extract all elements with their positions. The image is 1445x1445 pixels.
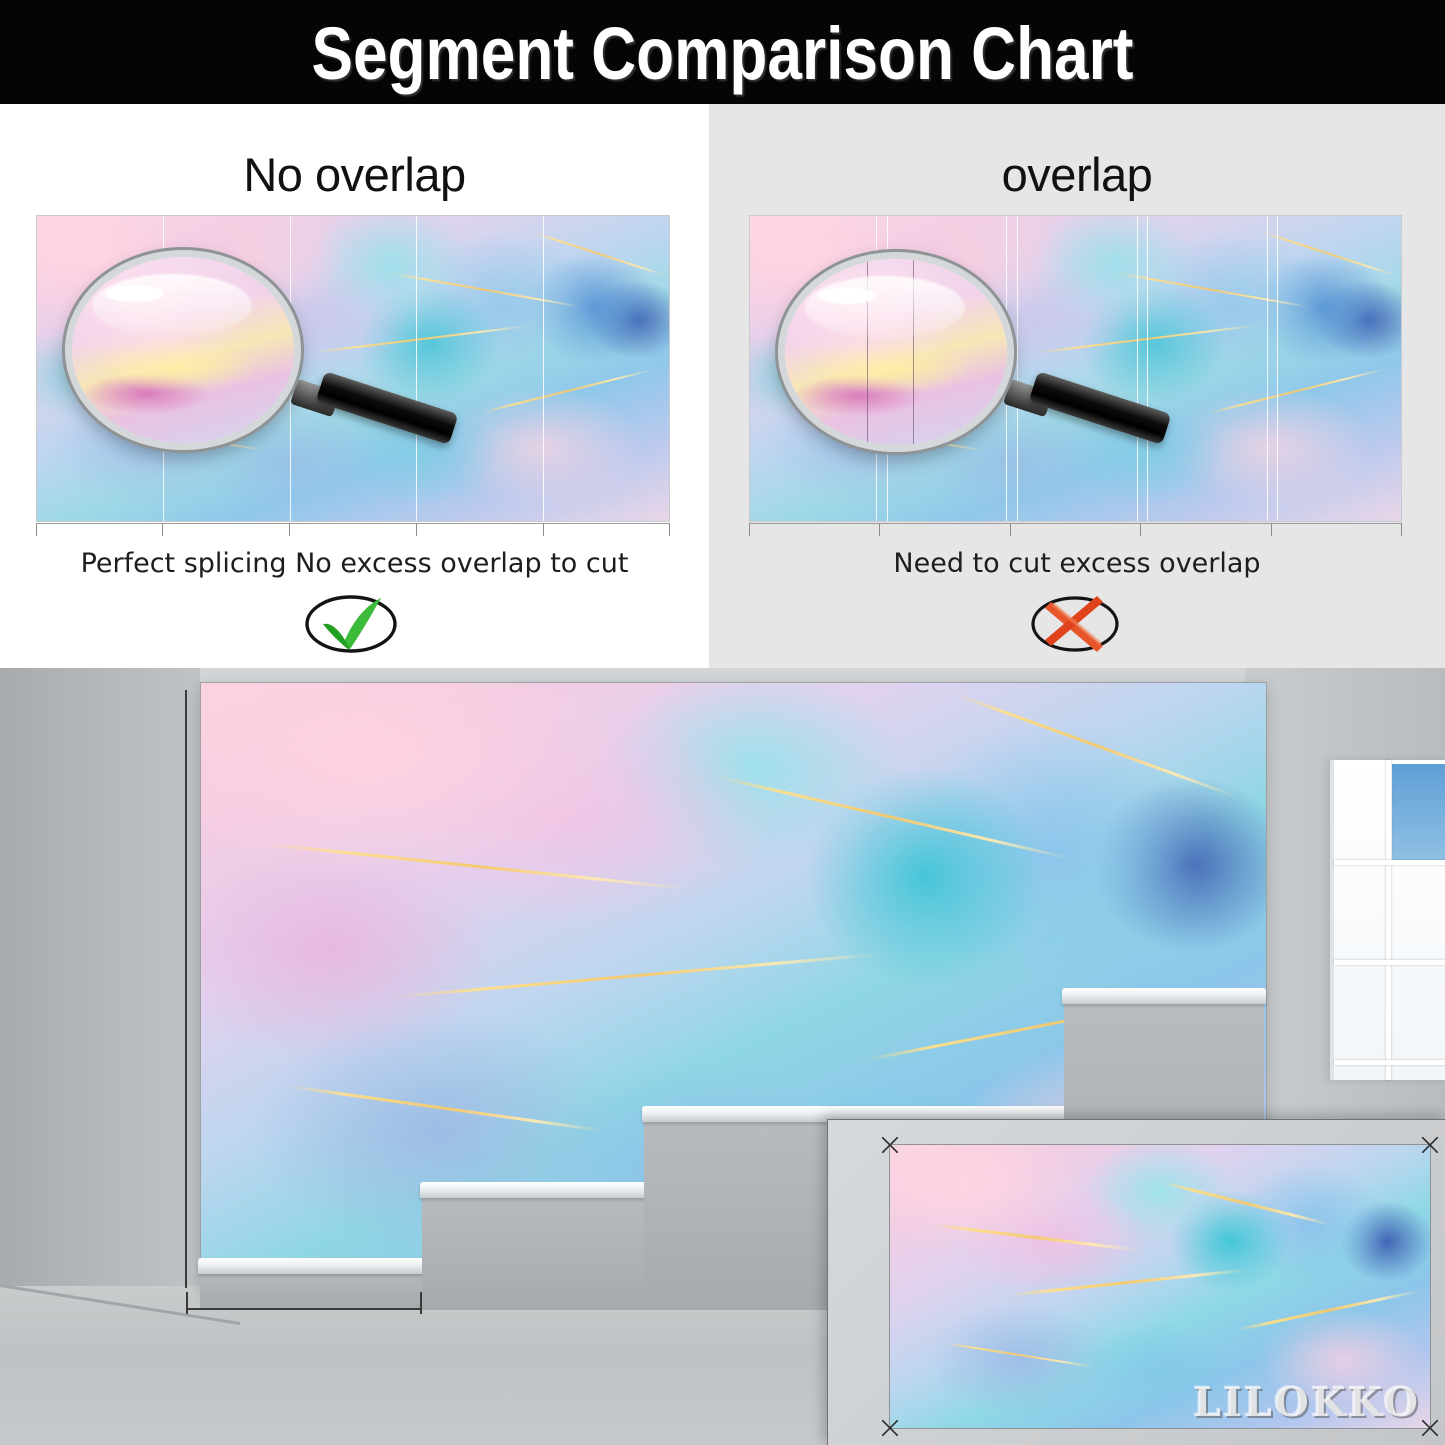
magnifying-glass-icon xyxy=(65,250,485,490)
segment-seam-overlap xyxy=(1277,216,1278,521)
mural-thumbnail-overlap xyxy=(749,215,1402,522)
crop-mark-icon xyxy=(1422,1137,1438,1153)
window-mullion xyxy=(1334,960,1445,965)
closeup-inset-panel: LILOKKO xyxy=(827,1119,1445,1445)
vertical-dimension-line xyxy=(185,690,187,1288)
title-bar: Segment Comparison Chart xyxy=(0,0,1445,104)
panel-overlap: overlap xyxy=(709,104,1445,668)
segment-seam xyxy=(1267,216,1268,521)
window-mullion xyxy=(1334,860,1445,865)
page-title: Segment Comparison Chart xyxy=(116,6,1330,102)
grid-window-icon xyxy=(1330,760,1445,1080)
green-check-icon xyxy=(295,592,415,656)
magnifying-glass-icon xyxy=(778,252,1198,492)
inset-mural: LILOKKO xyxy=(889,1144,1431,1429)
crop-mark-icon xyxy=(882,1137,898,1153)
window-mullion xyxy=(1386,760,1391,1080)
panel-no-overlap: No overlap xyxy=(0,104,709,668)
window-mullion xyxy=(1334,1060,1445,1065)
measure-ruler xyxy=(749,523,1402,524)
mural-thumbnail-no-overlap xyxy=(36,215,670,522)
segment-seam xyxy=(543,216,544,521)
left-wall xyxy=(0,668,200,1308)
window-sky xyxy=(1392,764,1445,860)
caption-no-overlap: Perfect splicing No excess overlap to cu… xyxy=(0,548,709,579)
crop-mark-icon xyxy=(882,1420,898,1436)
stair-nosing xyxy=(1062,988,1266,1004)
product-infographic: Segment Comparison Chart No overlap xyxy=(0,0,1445,1445)
comparison-strip: No overlap xyxy=(0,104,1445,668)
horizontal-dimension-line xyxy=(186,1308,422,1310)
panel-heading-overlap: overlap xyxy=(709,104,1445,230)
brand-watermark: LILOKKO xyxy=(1193,1379,1420,1426)
panel-heading-no-overlap: No overlap xyxy=(0,104,709,230)
stair-nosing xyxy=(198,1258,424,1274)
red-cross-icon xyxy=(1017,592,1137,656)
crop-mark-icon xyxy=(1422,1420,1438,1436)
measure-ruler xyxy=(36,523,670,524)
caption-overlap: Need to cut excess overlap xyxy=(709,548,1445,579)
stair-step xyxy=(422,1188,644,1310)
room-scene: LILOKKO xyxy=(0,668,1445,1445)
stair-nosing xyxy=(420,1182,646,1198)
